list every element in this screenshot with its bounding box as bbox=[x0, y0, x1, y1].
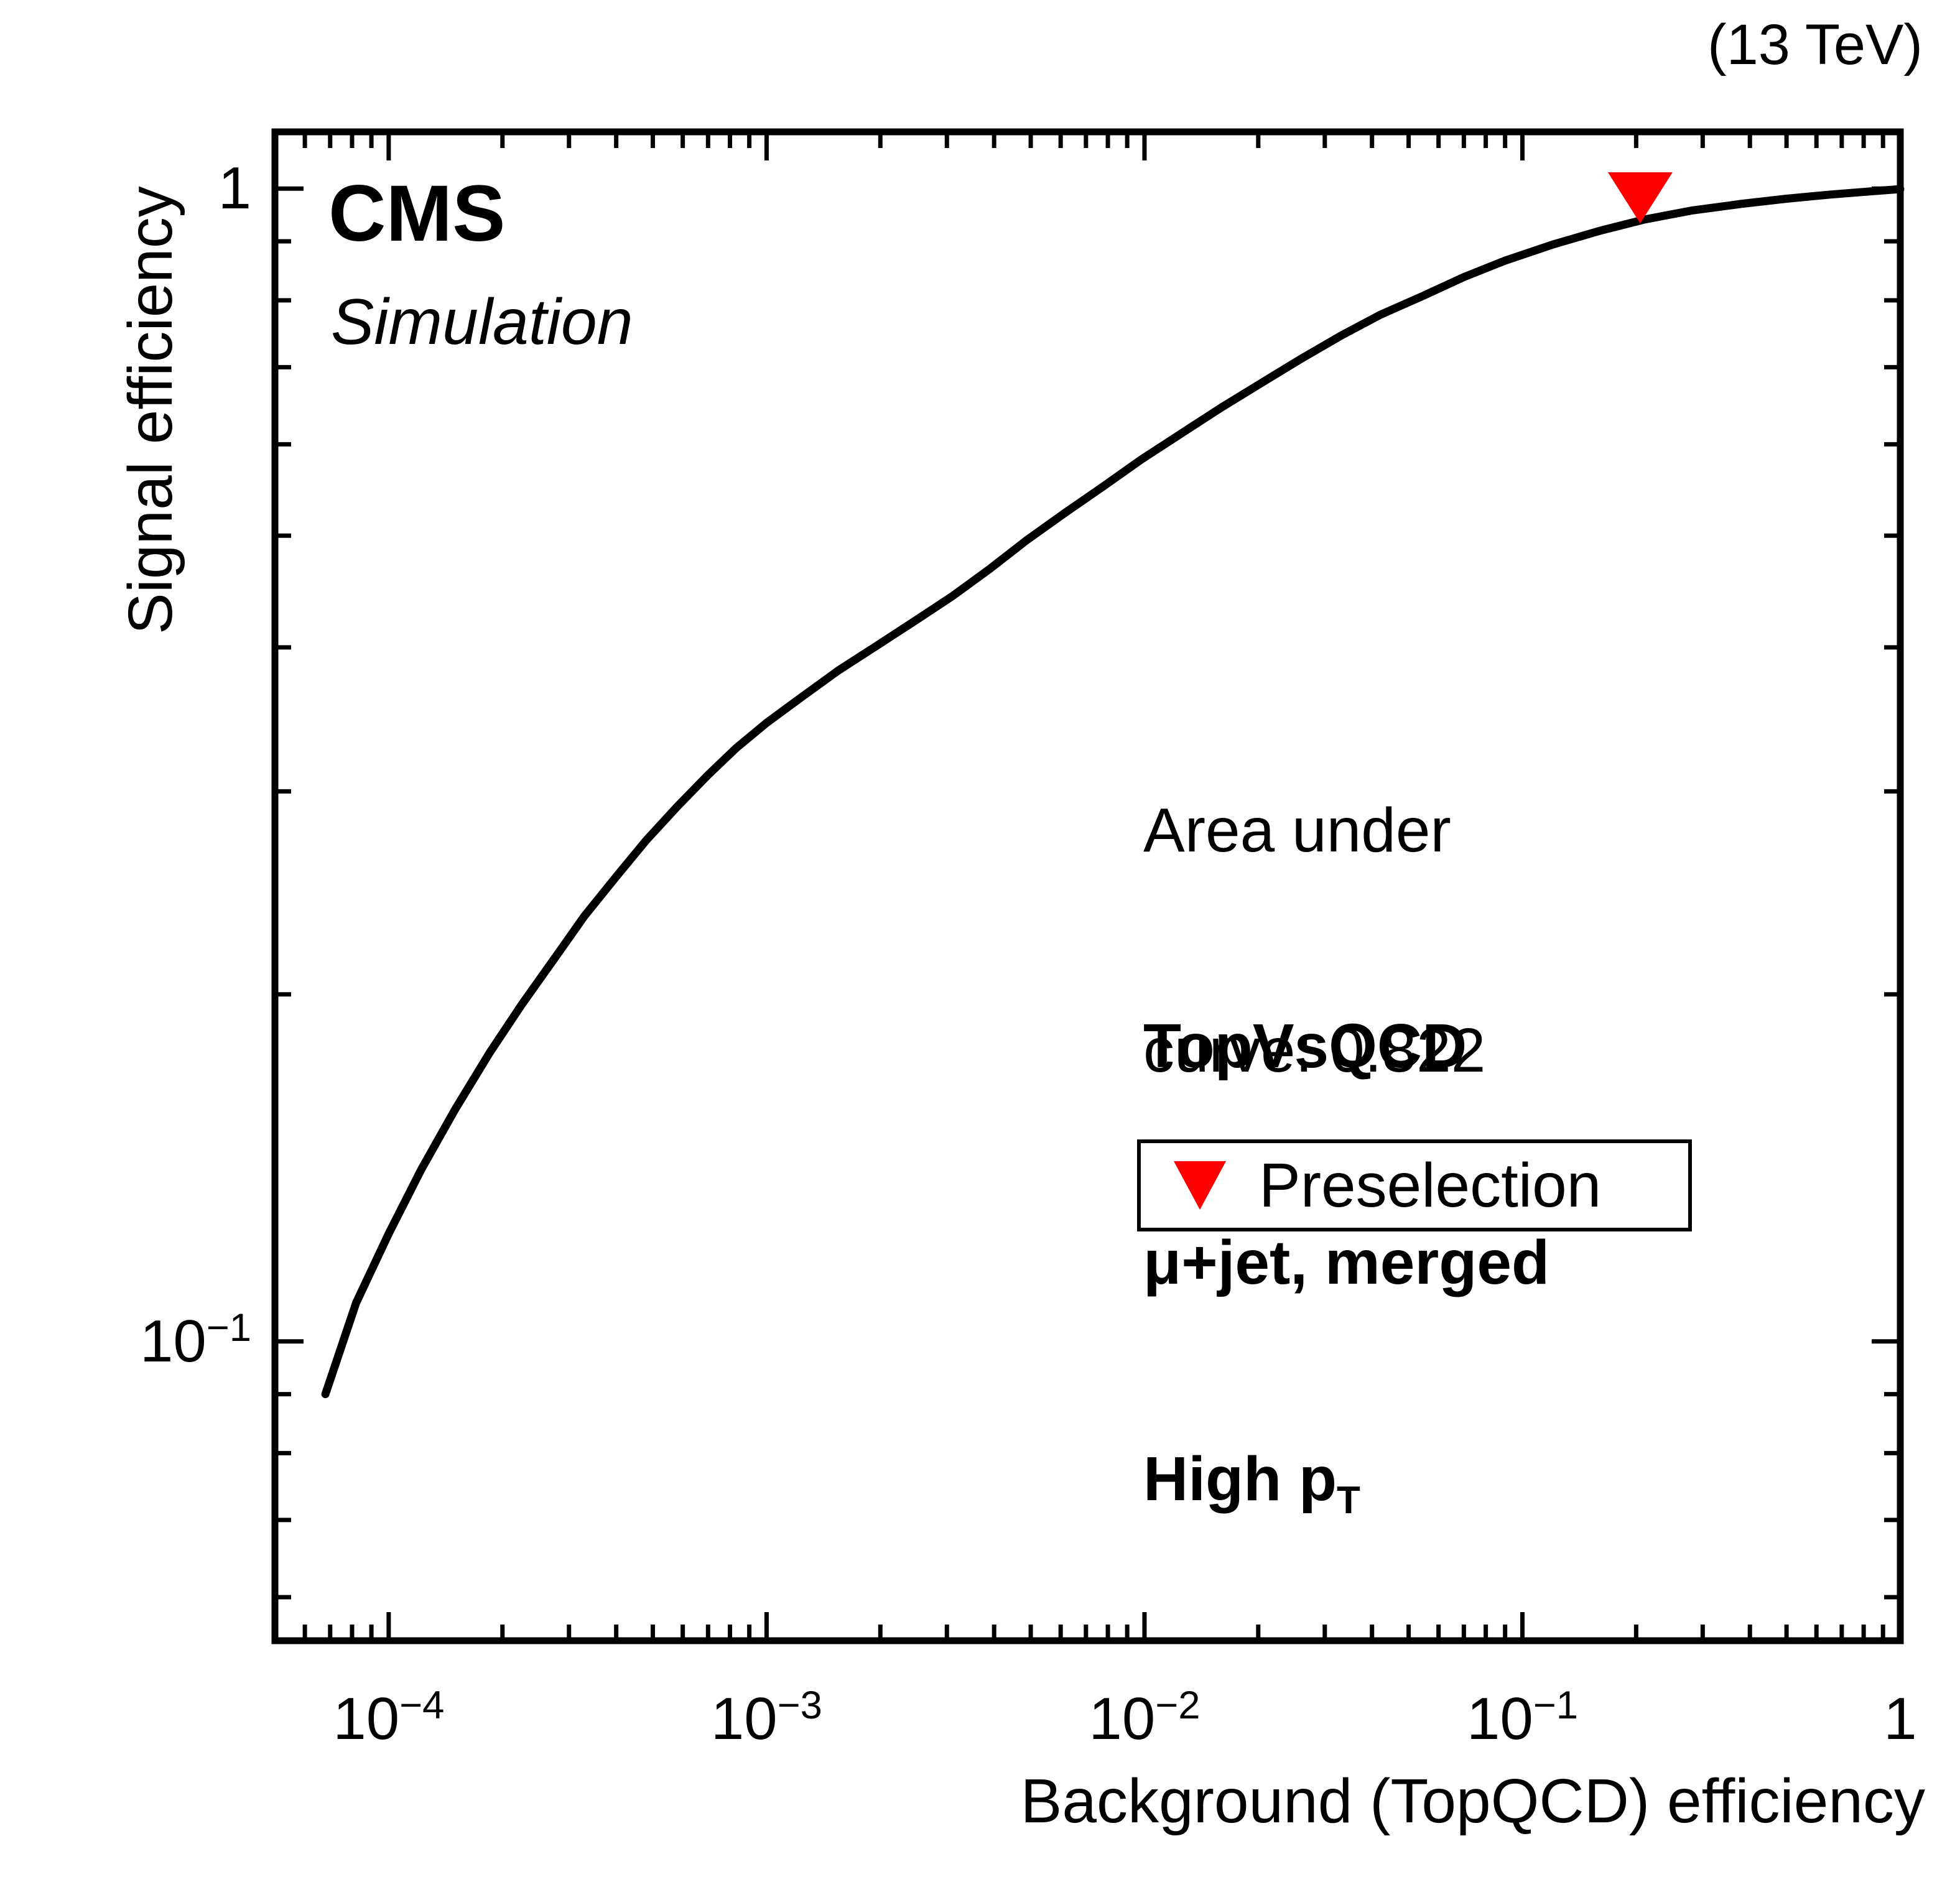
x-tick-label: 10−4 bbox=[333, 1689, 444, 1749]
x-tick-label: 10−3 bbox=[711, 1689, 822, 1749]
x-axis-title: Background (TopQCD) efficiency bbox=[1021, 1770, 1925, 1832]
y-tick-label: 10−1 bbox=[25, 1312, 251, 1371]
category-line-3-main: High p bbox=[1143, 1444, 1337, 1514]
cms-logo-label: CMS bbox=[328, 174, 505, 254]
roc-plot-svg bbox=[0, 0, 1960, 1887]
category-annotation: TopVsQCD μ+jet, merged High pT bbox=[1143, 866, 1549, 1659]
mu-symbol: μ bbox=[1143, 1228, 1181, 1297]
y-tick-label: 1 bbox=[25, 159, 251, 218]
pt-subscript: T bbox=[1337, 1479, 1360, 1522]
legend-label: Preselection bbox=[1259, 1150, 1601, 1222]
cms-simulation-label: Simulation bbox=[331, 290, 633, 355]
legend-marker-wrap bbox=[1141, 1161, 1259, 1210]
triangle-down-icon bbox=[1174, 1161, 1226, 1210]
category-line-2-rest: +jet, merged bbox=[1181, 1228, 1549, 1297]
x-tick-label: 10−1 bbox=[1467, 1689, 1578, 1749]
energy-label: (13 TeV) bbox=[1707, 16, 1923, 73]
category-line-2: μ+jet, merged bbox=[1143, 1226, 1549, 1299]
category-line-1: TopVsQCD bbox=[1143, 1010, 1549, 1082]
legend-entry-preselection: Preselection bbox=[1141, 1143, 1688, 1228]
auc-line-1: Area under bbox=[1143, 794, 1485, 867]
chart-canvas: (13 TeV) CMS Simulation Signal efficienc… bbox=[0, 0, 1960, 1887]
x-tick-label: 10−2 bbox=[1089, 1689, 1200, 1749]
y-axis-title: Signal efficiency bbox=[119, 186, 182, 634]
legend-box: Preselection bbox=[1137, 1139, 1692, 1231]
category-line-3: High pT bbox=[1143, 1443, 1549, 1515]
x-tick-label: 1 bbox=[1883, 1689, 1916, 1749]
